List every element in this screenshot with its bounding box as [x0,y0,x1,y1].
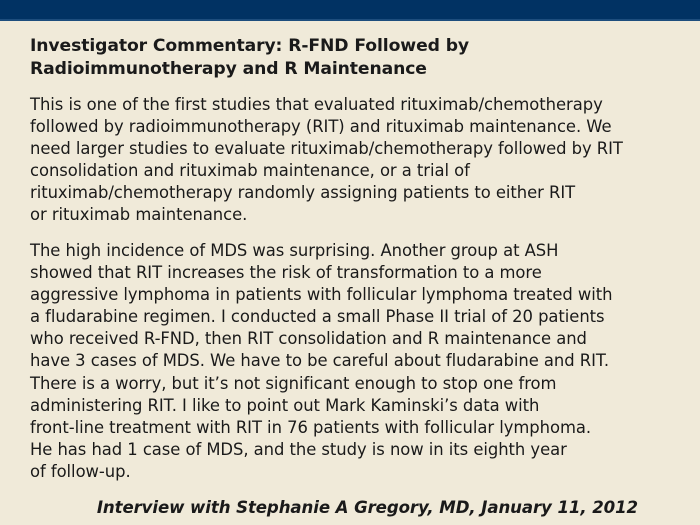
paragraph-line: aggressive lymphoma in patients with fol… [30,284,670,306]
top-accent-bar [0,0,700,19]
paragraph-line: of follow-up. [30,461,670,483]
paragraph-line: rituximab/chemotherapy randomly assignin… [30,182,670,204]
paragraph-line: administering RIT. I like to point out M… [30,395,670,417]
paragraph-line: followed by radioimmunotherapy (RIT) and… [30,116,670,138]
slide-content: Investigator Commentary: R-FND Followed … [0,21,700,517]
commentary-slide: Investigator Commentary: R-FND Followed … [0,0,700,525]
paragraph-line: or rituximab maintenance. [30,204,670,226]
commentary-paragraph: This is one of the first studies that ev… [30,94,670,226]
paragraph-line: There is a worry, but it’s not significa… [30,373,670,395]
page-title: Investigator Commentary: R-FND Followed … [30,35,670,81]
page-title-line: Investigator Commentary: R-FND Followed … [30,35,670,58]
paragraph-line: The high incidence of MDS was surprising… [30,240,670,262]
paragraph-line: need larger studies to evaluate rituxima… [30,138,670,160]
paragraph-line: who received R-FND, then RIT consolidati… [30,328,670,350]
paragraph-line: consolidation and rituximab maintenance,… [30,160,670,182]
paragraph-line: showed that RIT increases the risk of tr… [30,262,670,284]
paragraph-line: a fludarabine regimen. I conducted a sma… [30,306,670,328]
paragraph-line: This is one of the first studies that ev… [30,94,670,116]
page-title-line: Radioimmunotherapy and R Maintenance [30,58,670,81]
paragraph-line: have 3 cases of MDS. We have to be caref… [30,350,670,372]
paragraph-line: front-line treatment with RIT in 76 pati… [30,417,670,439]
paragraph-line: He has had 1 case of MDS, and the study … [30,439,670,461]
commentary-paragraph: The high incidence of MDS was surprising… [30,240,670,483]
interview-attribution: Interview with Stephanie A Gregory, MD, … [30,498,670,517]
